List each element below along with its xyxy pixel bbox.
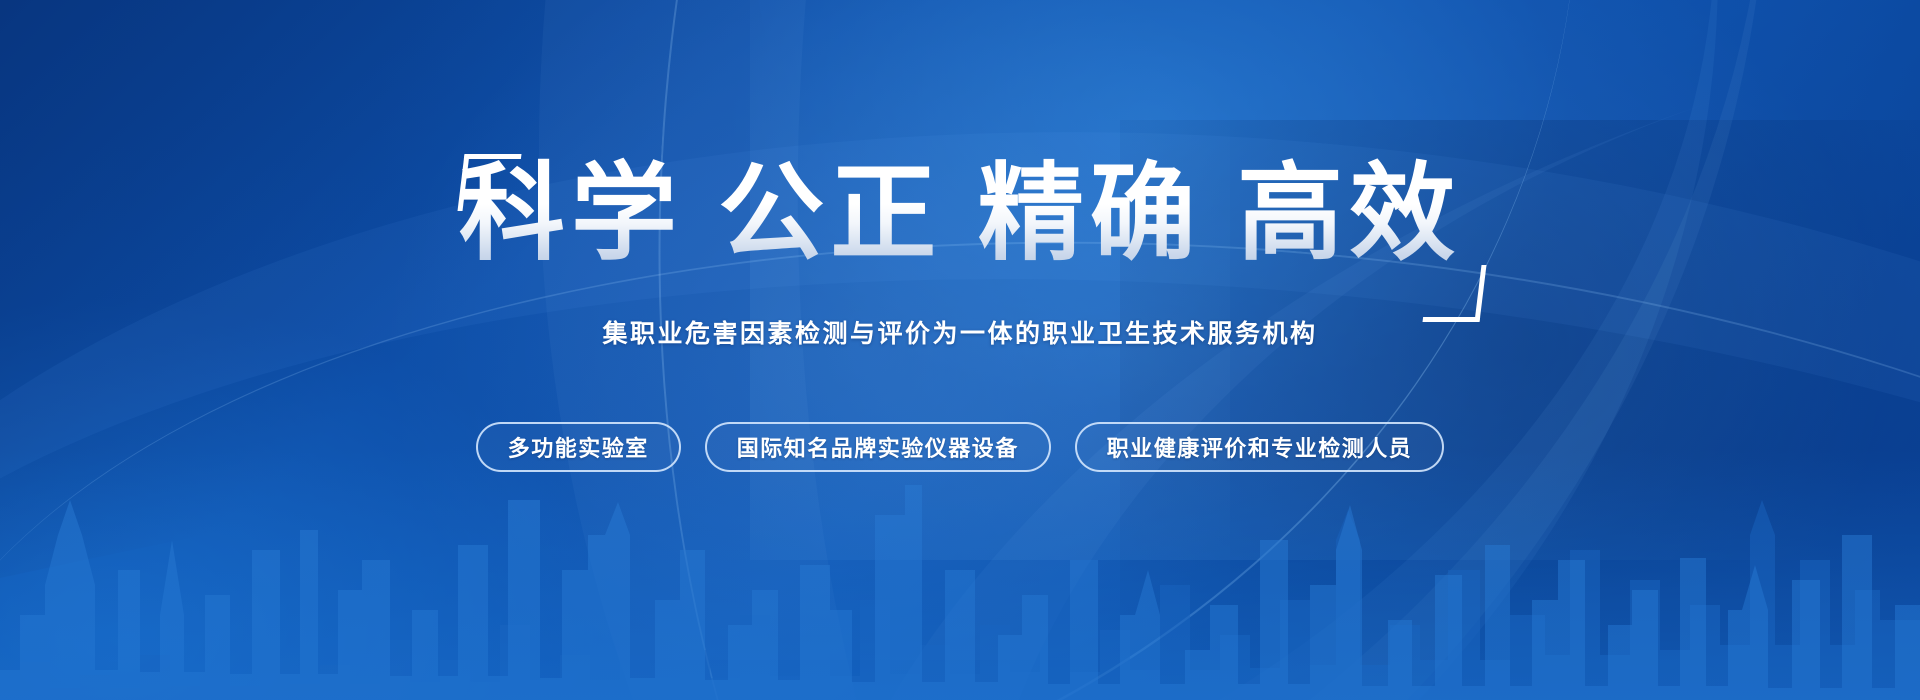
feature-pill-personnel[interactable]: 职业健康评价和专业检测人员 — [1075, 422, 1445, 472]
feature-pill-equipment[interactable]: 国际知名品牌实验仪器设备 — [705, 422, 1051, 472]
corner-bracket-bottom-right-icon — [1423, 265, 1487, 322]
page-subtitle: 集职业危害因素检测与评价为一体的职业卫生技术服务机构 — [602, 314, 1317, 350]
page-title: 科学 公正 精确 高效 — [459, 152, 1461, 276]
headline-block: 科学 公正 精确 高效 — [455, 152, 1465, 284]
banner-content: 科学 公正 精确 高效 集职业危害因素检测与评价为一体的职业卫生技术服务机构 多… — [0, 0, 1920, 700]
feature-pill-list: 多功能实验室 国际知名品牌实验仪器设备 职业健康评价和专业检测人员 — [476, 422, 1445, 472]
hero-banner: 科学 公正 精确 高效 集职业危害因素检测与评价为一体的职业卫生技术服务机构 多… — [0, 0, 1920, 700]
feature-pill-lab[interactable]: 多功能实验室 — [476, 422, 681, 472]
